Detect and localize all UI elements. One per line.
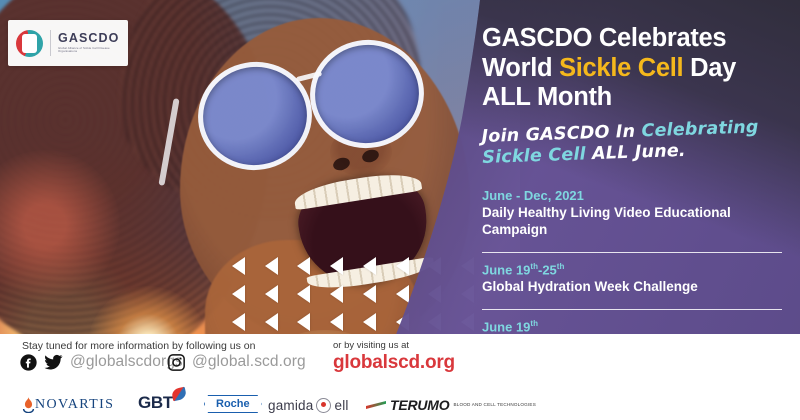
left-triangle-icon (232, 285, 245, 303)
gamida-cell-dot-icon (316, 398, 331, 413)
event-date: June 19th (482, 319, 788, 334)
sponsor-name: gamidaell (268, 398, 349, 413)
instagram-group: @global.scd.org (168, 353, 306, 371)
headline-line-2-before: World (482, 54, 559, 82)
left-triangle-icon (330, 313, 343, 331)
page-title: GASCDO Celebrates World Sickle Cell Day … (482, 0, 788, 113)
gamida-label: gamida (268, 398, 313, 413)
headline-line-1: GASCDO Celebrates (482, 24, 726, 52)
left-triangle-icon (363, 313, 376, 331)
event-divider (482, 252, 782, 253)
headline-line-2-after: Day (683, 54, 736, 82)
gascdo-logo[interactable]: GASCDO Global Alliance of Sickle Cell Di… (8, 20, 128, 66)
event-description: Daily Healthy Living Video Educational C… (482, 205, 788, 239)
facebook-icon[interactable] (20, 354, 37, 371)
poster-canvas: GASCDO Celebrates World Sickle Cell Day … (0, 0, 800, 420)
left-triangle-icon (265, 285, 278, 303)
sponsor-gbt[interactable]: GBT (138, 393, 173, 413)
event-date-sup: th (530, 262, 538, 271)
gascdo-circle-logo-icon (16, 30, 43, 57)
event-date: June 19th-25th (482, 262, 788, 277)
event-divider (482, 309, 782, 310)
event-date: June - Dec, 2021 (482, 188, 788, 203)
sponsor-logos: NOVARTIS GBT Roche gamidaell (0, 387, 800, 417)
left-triangle-icon (396, 285, 409, 303)
event-item: June - Dec, 2021 Daily Healthy Living Vi… (482, 188, 788, 243)
gbt-ribbon-icon (171, 387, 187, 402)
gbt-label: GBT (138, 393, 173, 412)
social-handles-group: @globalscdorgs (20, 353, 183, 371)
social-handle[interactable]: @globalscdorgs (70, 353, 183, 371)
left-triangle-icon (265, 313, 278, 331)
event-description: Global Hydration Week Challenge (482, 279, 788, 296)
script-part-4: ALL June. (585, 140, 686, 163)
visit-label: or by visiting us at (333, 340, 455, 351)
terumo-swoosh-icon (366, 401, 386, 409)
left-triangle-icon (330, 285, 343, 303)
headline-line-3: ALL Month (482, 83, 612, 111)
logo-text: GASCDO Global Alliance of Sickle Cell Di… (58, 32, 120, 53)
sponsor-name: NOVARTIS (35, 397, 114, 413)
left-triangle-icon (396, 257, 409, 275)
website-url[interactable]: globalscd.org (333, 352, 455, 374)
footer-bar: Stay tuned for more information by follo… (0, 334, 800, 420)
terumo-tagline: BLOOD AND CELL TECHNOLOGIES (453, 402, 536, 408)
left-triangle-icon (330, 257, 343, 275)
sponsor-name: GBT (138, 393, 173, 413)
instagram-icon[interactable] (168, 354, 185, 371)
left-triangle-icon (363, 285, 376, 303)
website-group: or by visiting us at globalscd.org (333, 340, 455, 374)
sponsor-gamida-cell[interactable]: gamidaell (268, 398, 349, 413)
logo-divider (50, 30, 51, 56)
twitter-icon[interactable] (44, 354, 63, 371)
event-date-prefix: June 19 (482, 319, 530, 334)
left-triangle-icon (297, 285, 310, 303)
roche-hexagon-icon: Roche (204, 395, 262, 413)
stay-tuned-text: Stay tuned for more information by follo… (22, 340, 255, 352)
left-triangle-icon (232, 313, 245, 331)
event-date-sup2: th (557, 262, 565, 271)
event-date-sup: th (530, 319, 538, 328)
logo-subtitle: Global Alliance of Sickle Cell Disease O… (58, 47, 120, 54)
instagram-handle[interactable]: @global.scd.org (192, 353, 306, 371)
sponsor-terumo[interactable]: TERUMO BLOOD AND CELL TECHNOLOGIES (366, 397, 536, 413)
cell-label: ell (334, 398, 348, 413)
novartis-flame-icon (22, 397, 35, 413)
sponsor-roche[interactable]: Roche (204, 395, 262, 413)
left-triangle-icon (265, 257, 278, 275)
script-celebrating: Celebrating (641, 117, 759, 141)
left-triangle-icon (232, 257, 245, 275)
logo-name: GASCDO (58, 32, 120, 45)
left-triangle-icon (363, 257, 376, 275)
script-subtitle: Join GASCDO In Celebrating Sickle Cell A… (481, 116, 788, 168)
event-date-mid: -25 (538, 262, 557, 277)
left-triangle-icon (297, 257, 310, 275)
sponsor-novartis[interactable]: NOVARTIS (22, 397, 114, 413)
script-sickle-cell: Sickle Cell (482, 144, 586, 168)
headline-highlight: Sickle Cell (559, 54, 683, 82)
event-date-prefix: June 19 (482, 262, 530, 277)
sponsor-name: TERUMO (390, 397, 449, 413)
left-triangle-icon (297, 313, 310, 331)
event-item: June 19th-25th Global Hydration Week Cha… (482, 262, 788, 300)
